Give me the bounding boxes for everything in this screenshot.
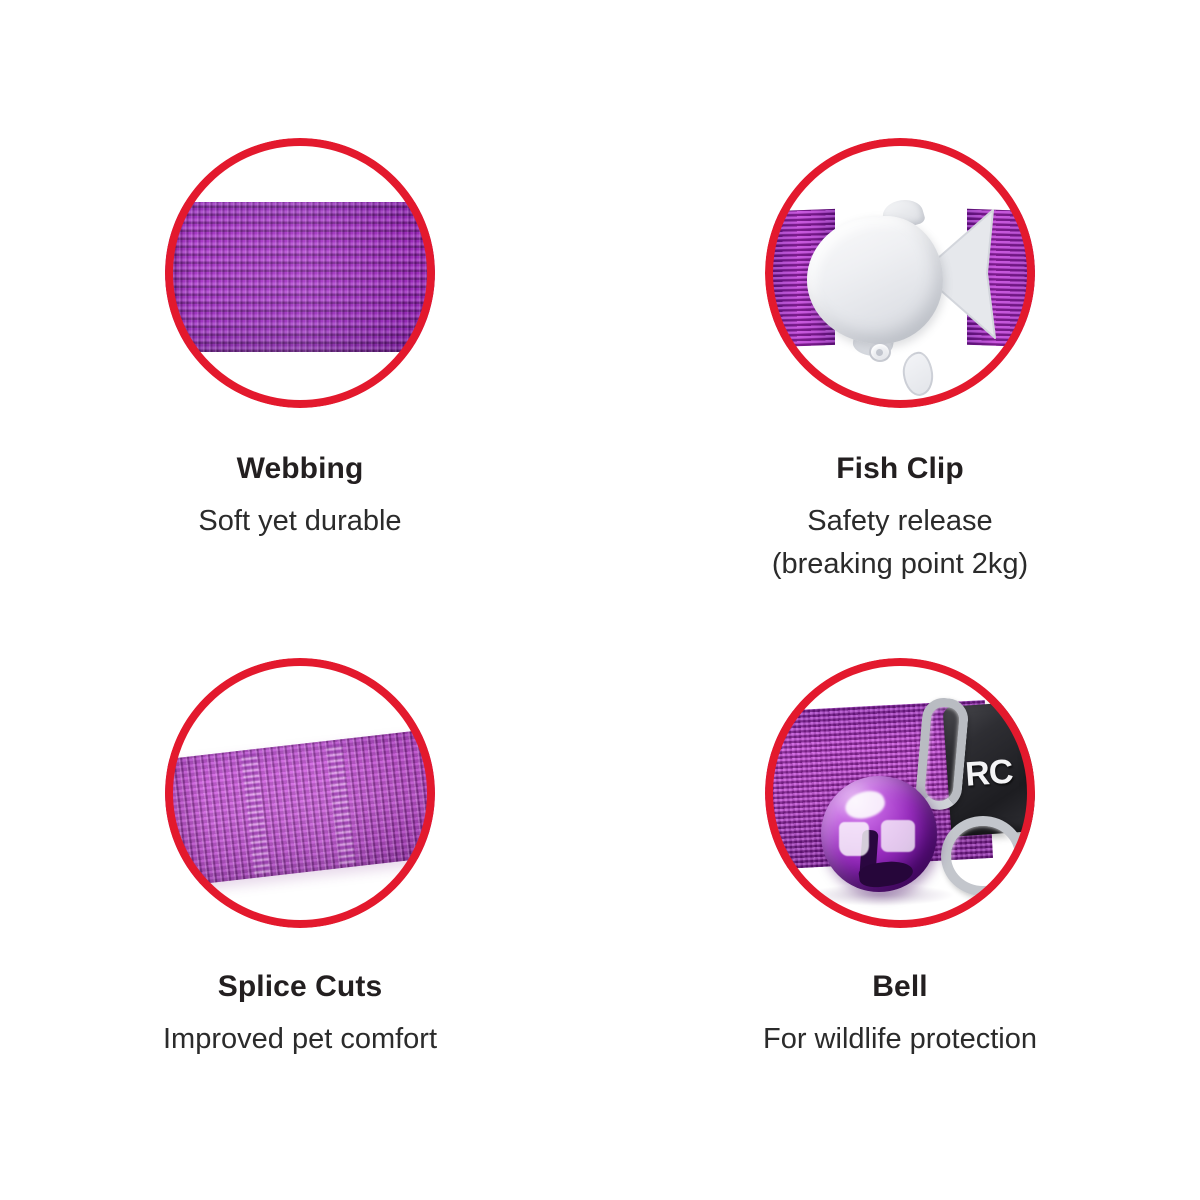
feature-title: Fish Clip — [600, 452, 1200, 486]
bell-highlight — [881, 820, 915, 852]
feature-title: Bell — [600, 970, 1200, 1004]
photo-purple-nylon-webbing-closeup — [165, 138, 435, 408]
webbing-strap-graphic — [165, 202, 435, 352]
photo-white-fish-shaped-safety-buckle-closeup — [765, 138, 1035, 408]
caption-webbing: Webbing Soft yet durable — [0, 408, 600, 543]
feature-description-line-1: Safety release — [600, 500, 1200, 543]
feature-title: Splice Cuts — [0, 970, 600, 1004]
caption-splice-cuts: Splice Cuts Improved pet comfort — [0, 928, 600, 1061]
splice-cut-mark — [326, 743, 355, 864]
splice-cut-mark — [241, 753, 270, 874]
feature-cell-splice-cuts: Splice Cuts Improved pet comfort — [0, 600, 600, 1200]
feature-cell-fish-clip: Fish Clip Safety release (breaking point… — [600, 0, 1200, 600]
photo-magenta-webbing-splice-cuts-closeup — [165, 658, 435, 928]
caption-bell: Bell For wildlife protection — [600, 928, 1200, 1061]
feature-cell-webbing: Webbing Soft yet durable — [0, 0, 600, 600]
splice-strap-graphic — [165, 726, 435, 889]
feature-description: Soft yet durable — [0, 500, 600, 543]
feature-title: Webbing — [0, 452, 600, 486]
fish-pectoral-fin — [900, 350, 936, 398]
fish-mouth-icon — [853, 394, 875, 406]
feature-grid: Webbing Soft yet durable — [0, 0, 1200, 1200]
caption-fish-clip: Fish Clip Safety release (breaking point… — [600, 408, 1200, 586]
fish-eye-icon — [869, 342, 891, 362]
bell-highlight — [839, 822, 869, 856]
bell-highlight — [842, 786, 888, 823]
feature-cell-bell: RC Bell For wildlife protection — [600, 600, 1200, 1200]
feature-description-line-2: (breaking point 2kg) — [600, 543, 1200, 586]
medallion-bell: RC — [765, 658, 1035, 928]
photo-purple-metallic-bell-with-split-ring-closeup: RC — [765, 658, 1035, 928]
bell-icon — [821, 776, 937, 892]
feature-description: For wildlife protection — [600, 1018, 1200, 1061]
medallion-fish-clip — [765, 138, 1035, 408]
feature-description: Improved pet comfort — [0, 1018, 600, 1061]
medallion-webbing — [165, 138, 435, 408]
feature-description: Safety release (breaking point 2kg) — [600, 500, 1200, 586]
brand-tag-text: RC — [964, 752, 1014, 794]
medallion-splice-cuts — [165, 658, 435, 928]
fish-clip-body — [807, 216, 943, 344]
